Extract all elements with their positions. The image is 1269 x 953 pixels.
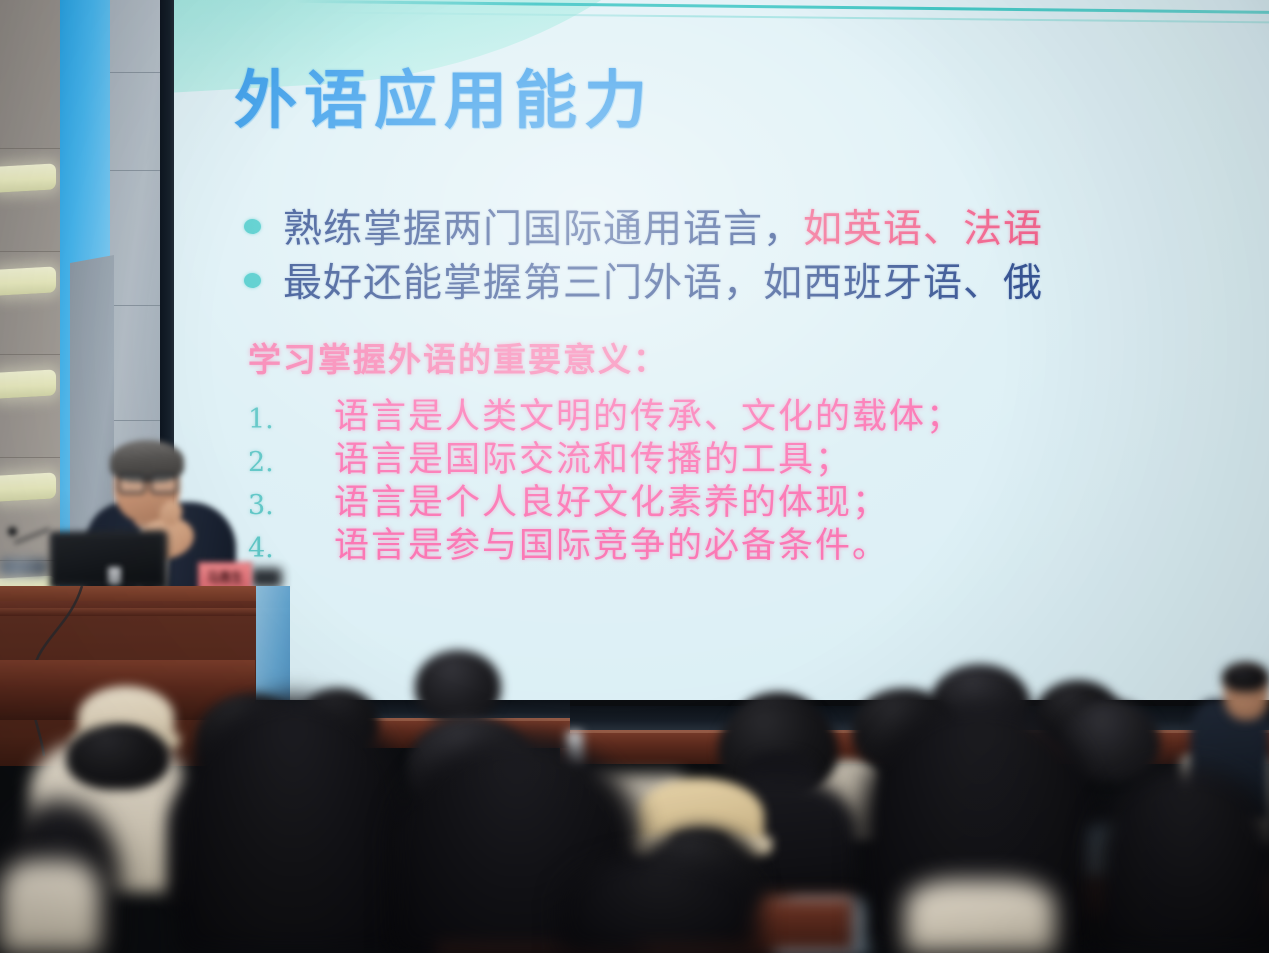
- desk-equipment: [0, 558, 48, 576]
- slide-bullet-2-text-blue: 最好还能掌握第三门外语，如西班牙语、俄: [283, 252, 1043, 308]
- wall-seam-1: [0, 148, 62, 149]
- wall-seam-2: [0, 251, 62, 252]
- slide-numbered-item-4: 4. 语言是参与国际竞争的必备条件。: [248, 517, 889, 568]
- wall-seam-4: [0, 457, 62, 458]
- nameplate-label: 马燕生: [207, 567, 243, 587]
- audience-head-fore-1: [178, 696, 408, 953]
- slide-item-4-number: 4.: [248, 533, 334, 564]
- slide-item-4-text: 语言是参与国际竞争的必备条件。: [334, 517, 889, 568]
- projection-screen: 外语应用能力 熟练掌握两门国际通用语言，如英语、法语 最好还能掌握第三门外语，如…: [174, 0, 1269, 700]
- slide-bullet-1: 熟练掌握两门国际通用语言，如英语、法语: [244, 198, 1043, 254]
- audience-head-fore-4: [1090, 766, 1269, 953]
- ceiling-light-3: [0, 369, 56, 398]
- ceiling-light-1: [0, 163, 56, 192]
- microphone-head-icon: [8, 527, 17, 536]
- audience-head-fore-6: [560, 856, 760, 953]
- slide-bullet-1-text-pink: 如英语、法语: [803, 198, 1043, 254]
- ceiling-light-4: [0, 472, 56, 501]
- slide-bullet-2: 最好还能掌握第三门外语，如西班牙语、俄: [244, 252, 1043, 308]
- slide-subheading: 学习掌握外语的重要意义：: [248, 333, 668, 381]
- water-cup-icon: [108, 567, 121, 585]
- audience-head-left-1: [66, 724, 170, 790]
- audience-head-back-2: [415, 650, 501, 722]
- wall-seam-3: [0, 354, 62, 355]
- glasses-icon: [116, 474, 178, 491]
- audience-shoulder-cream-foreground: [0, 860, 100, 953]
- lecture-hall-scene: 外语应用能力 熟练掌握两门国际通用语言，如英语、法语 最好还能掌握第三门外语，如…: [0, 0, 1269, 953]
- slide-bullet-1-text-blue: 熟练掌握两门国际通用语言，: [283, 198, 803, 254]
- desk-object-dark: [250, 568, 282, 588]
- slide-title: 外语应用能力: [234, 50, 654, 141]
- bullet-dot-icon: [244, 219, 261, 234]
- bullet-dot-icon: [244, 273, 261, 288]
- ceiling-light-2: [0, 266, 56, 295]
- audience-hair-right-suit: [1222, 662, 1269, 692]
- audience-shoulder-cream-right: [905, 880, 1055, 953]
